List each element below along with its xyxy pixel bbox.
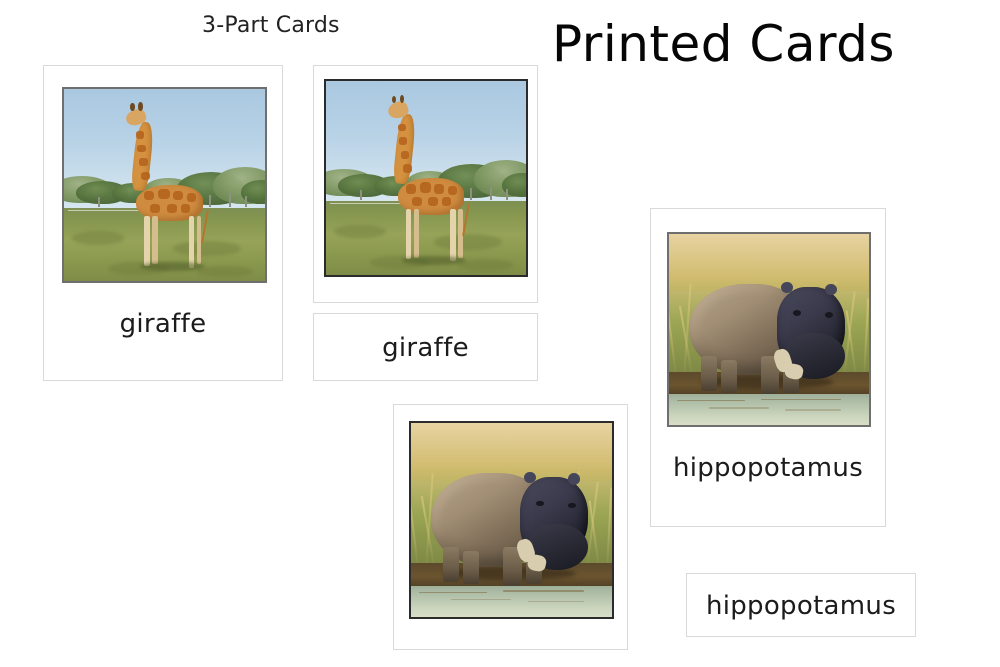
- giraffe-three-part-card[interactable]: giraffe: [43, 65, 283, 381]
- hippopotamus-three-part-card[interactable]: hippopotamus: [650, 208, 886, 527]
- giraffe-photo: [62, 87, 267, 283]
- printed-cards-heading: Printed Cards: [552, 19, 895, 69]
- giraffe-card-label: giraffe: [44, 309, 282, 339]
- hippopotamus-scene-illustration: [669, 234, 869, 425]
- giraffe-label-text: giraffe: [314, 333, 537, 363]
- three-part-cards-heading: 3-Part Cards: [202, 13, 340, 38]
- giraffe-label-card[interactable]: giraffe: [313, 313, 538, 381]
- hippopotamus-photo: [409, 421, 614, 619]
- hippopotamus-label-card[interactable]: hippopotamus: [686, 573, 916, 637]
- giraffe-scene-illustration: [326, 81, 526, 275]
- giraffe-photo: [324, 79, 528, 277]
- giraffe-scene-illustration: [64, 89, 265, 281]
- giraffe-picture-card[interactable]: [313, 65, 538, 303]
- hippopotamus-scene-illustration: [411, 423, 612, 617]
- hippopotamus-photo: [667, 232, 871, 427]
- hippopotamus-picture-card[interactable]: [393, 404, 628, 650]
- hippopotamus-label-text: hippopotamus: [687, 591, 915, 621]
- hippopotamus-card-label: hippopotamus: [651, 453, 885, 483]
